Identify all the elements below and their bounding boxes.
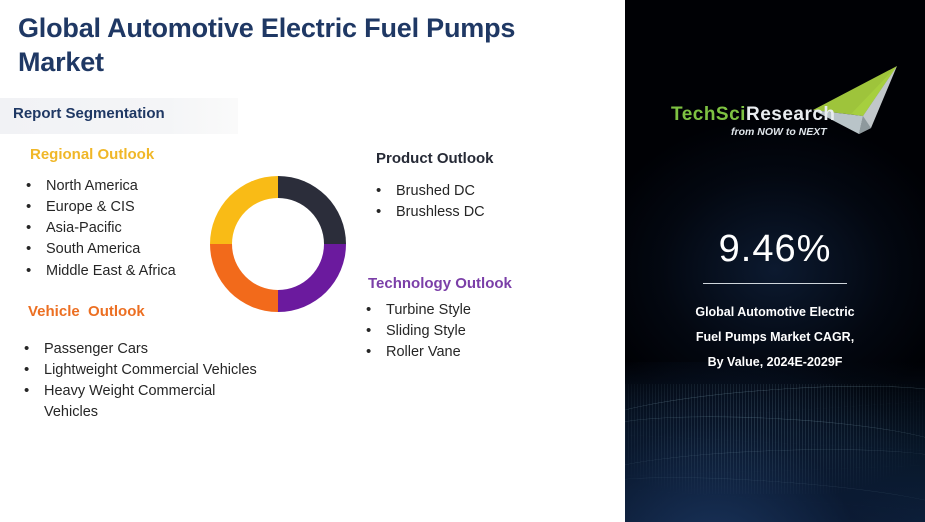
logo-text-primary: TechSci: [671, 104, 746, 125]
report-segmentation-label: Report Segmentation: [13, 105, 165, 122]
technology-outlook-list: Turbine Style Sliding Style Roller Vane: [358, 300, 471, 363]
list-item: South America: [18, 239, 176, 260]
list-item: Middle East & Africa: [18, 261, 176, 282]
infographic-canvas: Global Automotive Electric Fuel Pumps Ma…: [0, 0, 925, 522]
wave-mesh-background: [625, 362, 925, 522]
techsci-research-logo: TechSciResearch from NOW to NEXT: [665, 78, 895, 148]
product-outlook-list: Brushed DC Brushless DC: [368, 181, 485, 223]
list-item: Roller Vane: [358, 342, 471, 363]
list-item: Heavy Weight Commercial Vehicles: [16, 381, 254, 423]
brand-highlight-panel: TechSciResearch from NOW to NEXT 9.46% G…: [625, 0, 925, 522]
product-outlook-heading: Product Outlook: [376, 150, 494, 167]
regional-outlook-list: North America Europe & CIS Asia-Pacific …: [18, 176, 176, 282]
list-item: Turbine Style: [358, 300, 471, 321]
list-item: Brushed DC: [368, 181, 485, 202]
list-item: Brushless DC: [368, 202, 485, 223]
list-item: Europe & CIS: [18, 197, 176, 218]
left-content-panel: Global Automotive Electric Fuel Pumps Ma…: [0, 0, 625, 522]
list-item: Passenger Cars: [16, 339, 257, 360]
divider: [703, 283, 847, 284]
list-item: North America: [18, 176, 176, 197]
logo-wordmark: TechSciResearch: [671, 104, 836, 126]
technology-outlook-heading: Technology Outlook: [368, 275, 512, 292]
regional-outlook-heading: Regional Outlook: [30, 146, 154, 163]
logo-tagline: from NOW to NEXT: [731, 126, 827, 138]
list-item: Lightweight Commercial Vehicles: [16, 360, 257, 381]
vehicle-outlook-heading: Vehicle Outlook: [28, 303, 145, 320]
list-item: Asia-Pacific: [18, 218, 176, 239]
segmentation-donut-chart: [210, 168, 346, 320]
logo-text-secondary: Research: [746, 104, 836, 125]
list-item: Sliding Style: [358, 321, 471, 342]
vehicle-outlook-list: Passenger Cars Lightweight Commercial Ve…: [16, 339, 257, 424]
donut-center-hole: [232, 198, 324, 290]
page-title: Global Automotive Electric Fuel Pumps Ma…: [18, 12, 578, 80]
cagr-caption: Global Automotive Electric Fuel Pumps Ma…: [655, 300, 895, 375]
cagr-value: 9.46%: [625, 228, 925, 271]
